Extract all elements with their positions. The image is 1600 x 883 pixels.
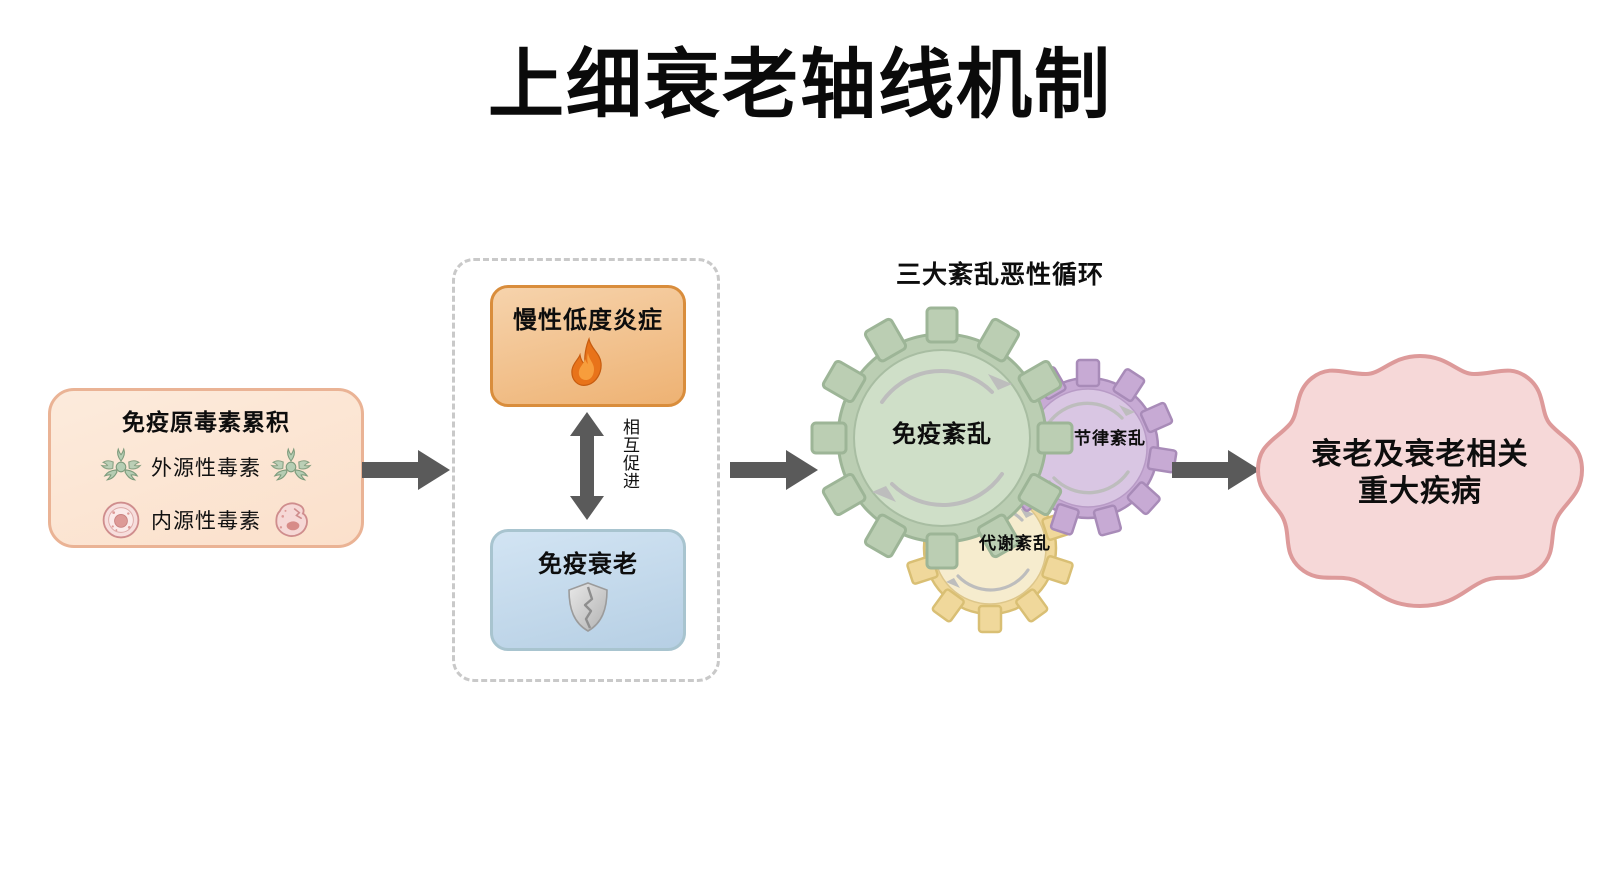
toxin-accumulation-box: 免疫原毒素累积 外源性毒素: [48, 388, 364, 548]
immunosenescence-card[interactable]: 免疫衰老: [490, 529, 686, 651]
cracked-shield-icon: [493, 581, 683, 633]
biohazard-icon: [99, 445, 143, 489]
vicious-cycle-heading: 三大紊乱恶性循环: [820, 255, 1180, 291]
toxin-box-title: 免疫原毒素累积: [51, 403, 361, 437]
cell-nucleus-icon: [99, 498, 143, 542]
toxin-row-endogenous: 内源性毒素: [51, 497, 361, 543]
three-disorders-gear-cluster: [800, 296, 1200, 656]
gear-label-metabolic: 代谢紊乱: [940, 529, 1090, 554]
chronic-inflammation-card[interactable]: 慢性低度炎症: [490, 285, 686, 407]
toxin-row-label: 外源性毒素: [151, 452, 261, 482]
immunosenescence-label: 免疫衰老: [493, 544, 683, 579]
diagram-canvas: 上细衰老轴线机制 免疫原毒素累积 外源性毒素: [0, 0, 1600, 883]
outcome-line-1: 衰老及衰老相关: [1262, 437, 1578, 474]
outcome-line-2: 重大疾病: [1262, 474, 1578, 511]
biohazard-icon: [269, 445, 313, 489]
toxin-row-exogenous: 外源性毒素: [51, 444, 361, 490]
gear-label-immune: 免疫紊乱: [842, 414, 1042, 449]
arrow-toxins-to-loop: [362, 446, 452, 499]
page-title: 上细衰老轴线机制: [0, 48, 1600, 124]
flame-icon: [493, 337, 683, 389]
double-headed-vertical-arrow-icon: [564, 410, 610, 522]
outcome-label: 衰老及衰老相关 重大疾病: [1262, 437, 1578, 510]
damaged-cell-icon: [269, 498, 313, 542]
gear-label-rhythm: 节律紊乱: [1040, 424, 1180, 449]
arrow-gears-to-outcome: [1172, 446, 1262, 499]
chronic-inflammation-label: 慢性低度炎症: [493, 300, 683, 335]
mutual-promotion-label: 相互促进: [616, 418, 638, 490]
toxin-row-label: 内源性毒素: [151, 505, 261, 535]
